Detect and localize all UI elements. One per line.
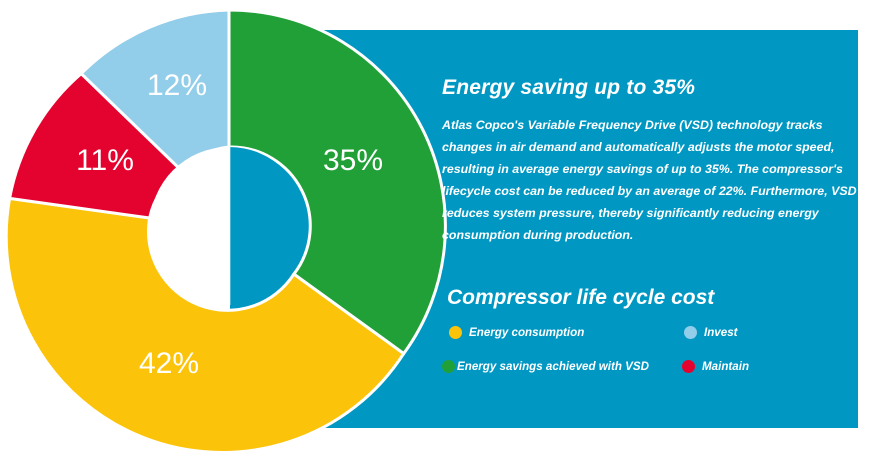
legend-item-label: Invest: [704, 327, 738, 339]
slice-value-label-lightblue: 12%: [147, 69, 207, 102]
legend-swatch-lightblue-icon: [684, 326, 697, 339]
legend-item-label: Energy savings achieved with VSD: [457, 361, 649, 373]
legend-swatch-red-icon: [682, 360, 695, 373]
infographic-canvas: 35% 42% 11% 12% Energy saving up to 35% …: [0, 0, 872, 454]
panel-body-text: Atlas Copco's Variable Frequency Drive (…: [442, 114, 862, 246]
panel-headline: Energy saving up to 35%: [442, 76, 858, 100]
legend-item-energy-consumption[interactable]: Energy consumption: [449, 326, 584, 339]
legend-item-maintain[interactable]: Maintain: [682, 360, 749, 373]
panel-content: Energy saving up to 35% Atlas Copco's Va…: [442, 30, 858, 428]
legend-swatch-yellow-icon: [449, 326, 462, 339]
legend-item-label: Energy consumption: [469, 327, 584, 339]
donut-chart: 35% 42% 11% 12%: [8, 5, 450, 447]
slice-value-label-green: 35%: [323, 144, 383, 177]
legend-title: Compressor life cycle cost: [447, 286, 714, 310]
slice-value-label-yellow: 42%: [139, 347, 199, 380]
donut-hole-seam: [228, 147, 231, 305]
slice-value-label-red: 11%: [76, 144, 134, 177]
legend-swatch-green-icon: [442, 360, 455, 373]
legend-item-energy-savings-vsd[interactable]: Energy savings achieved with VSD: [442, 360, 649, 373]
legend-item-invest[interactable]: Invest: [684, 326, 738, 339]
donut-chart-svg: 35% 42% 11% 12%: [8, 5, 450, 447]
legend-item-label: Maintain: [702, 361, 749, 373]
